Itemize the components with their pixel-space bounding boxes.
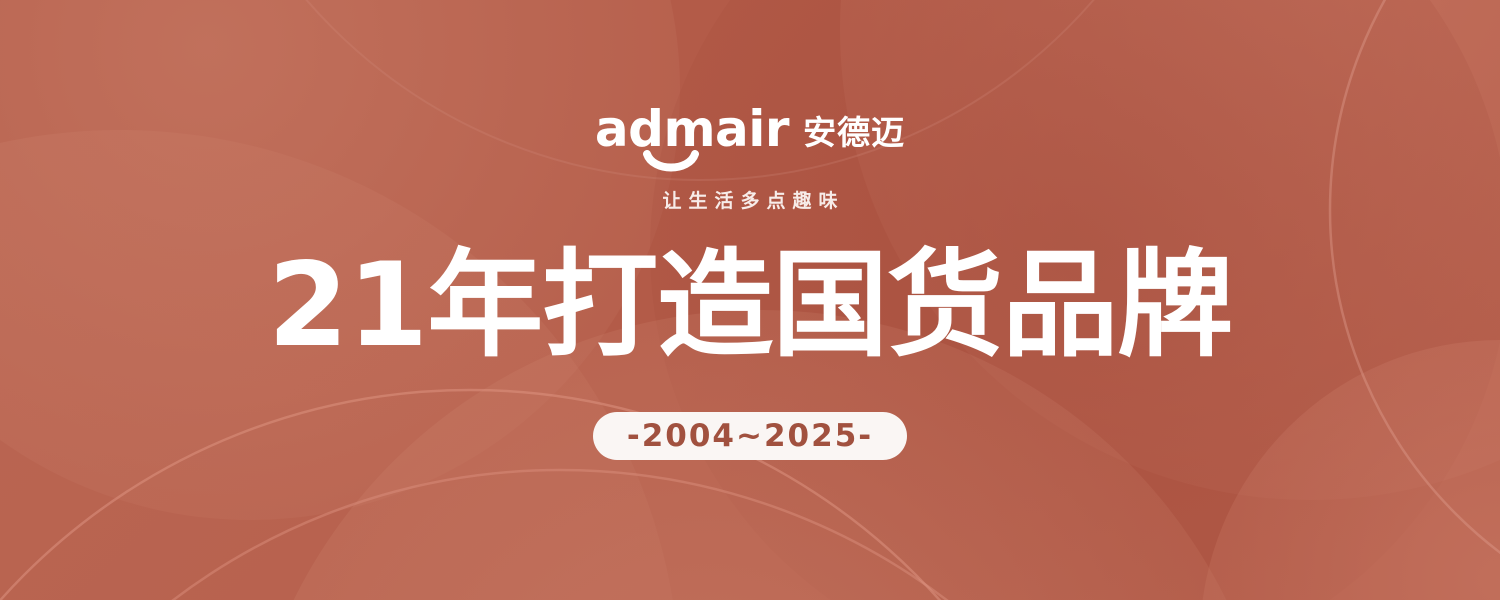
year-badge-row: -2004~2025-: [0, 412, 1500, 460]
headline-text: 21年打造国货品牌: [0, 248, 1500, 364]
logo-inner: admair 安德迈: [595, 104, 905, 154]
logo-wordmark: admair: [595, 104, 789, 154]
brand-logo: admair 安德迈: [0, 104, 1500, 154]
year-range-badge: -2004~2025-: [593, 412, 907, 460]
brand-anniversary-banner: admair 安德迈 让生活多点趣味 21年打造国货品牌 -2004~2025-: [0, 0, 1500, 600]
logo-chinese-name: 安德迈: [803, 116, 905, 149]
banner-content: admair 安德迈 让生活多点趣味 21年打造国货品牌 -2004~2025-: [0, 0, 1500, 600]
smile-arc-icon: [643, 150, 699, 176]
brand-tagline: 让生活多点趣味: [0, 186, 1500, 213]
